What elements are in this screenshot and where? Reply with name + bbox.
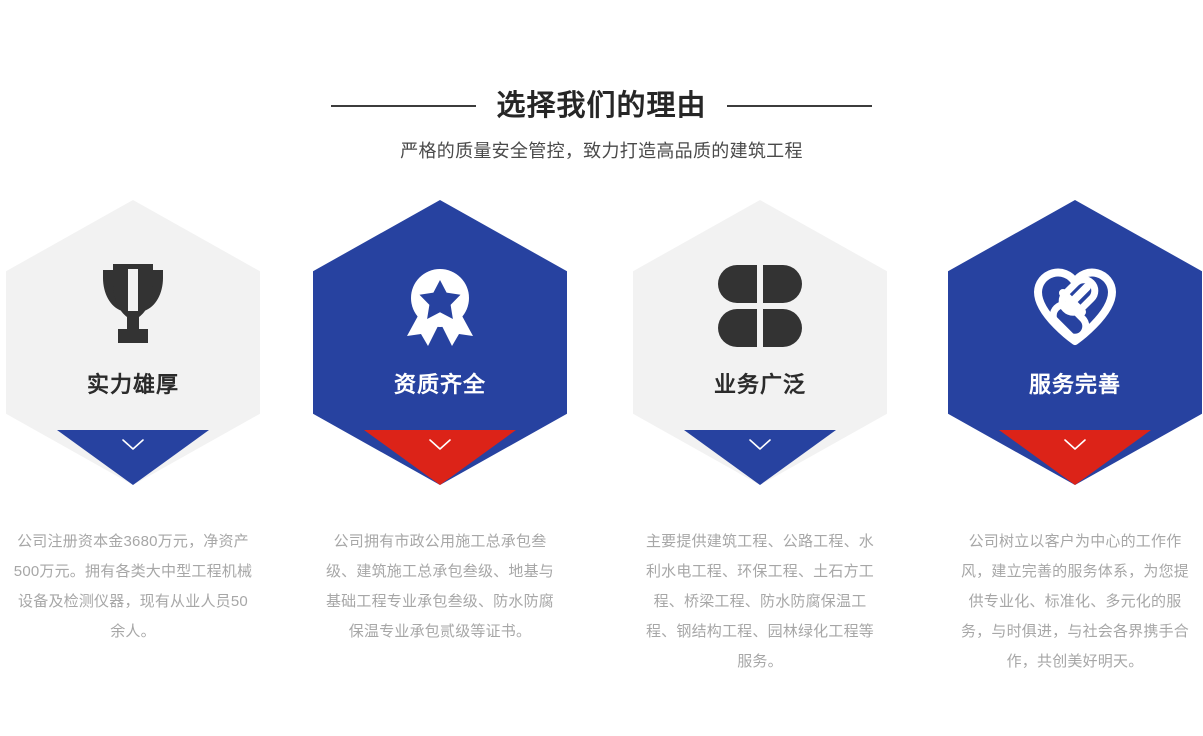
card-description: 公司树立以客户为中心的工作作风，建立完善的服务体系，为您提供专业化、标准化、多元… bbox=[948, 527, 1202, 677]
feature-card[interactable]: 实力雄厚 公司注册资本金3680万元，净资产500万元。拥有各类大中型工程机械设… bbox=[6, 200, 260, 647]
chevron-down-icon bbox=[1064, 439, 1086, 451]
chevron-down-icon bbox=[749, 439, 771, 451]
page-subtitle: 严格的质量安全管控，致力打造高品质的建筑工程 bbox=[0, 138, 1203, 164]
card-description: 公司拥有市政公用施工总承包叁级、建筑施工总承包叁级、地基与基础工程专业承包叁级、… bbox=[313, 527, 567, 647]
feature-card-list: 实力雄厚 公司注册资本金3680万元，净资产500万元。拥有各类大中型工程机械设… bbox=[0, 200, 1203, 700]
feature-card[interactable]: 业务广泛 主要提供建筑工程、公路工程、水利水电工程、环保工程、土石方工程、桥梁工… bbox=[633, 200, 887, 677]
card-description: 公司注册资本金3680万元，净资产500万元。拥有各类大中型工程机械设备及检测仪… bbox=[6, 527, 260, 647]
title-rule-right bbox=[727, 105, 872, 107]
trophy-icon bbox=[87, 258, 179, 354]
chevron-down-icon bbox=[429, 439, 451, 451]
section-header: 选择我们的理由 严格的质量安全管控，致力打造高品质的建筑工程 bbox=[0, 86, 1203, 164]
card-title: 实力雄厚 bbox=[87, 370, 179, 400]
hexagon-badge[interactable]: 资质齐全 bbox=[313, 200, 567, 485]
hexagon-badge[interactable]: 服务完善 bbox=[948, 200, 1202, 485]
hexagon-badge[interactable]: 业务广泛 bbox=[633, 200, 887, 485]
title-rule-left bbox=[331, 105, 476, 107]
feature-card[interactable]: 资质齐全 公司拥有市政公用施工总承包叁级、建筑施工总承包叁级、地基与基础工程专业… bbox=[313, 200, 567, 647]
card-title: 资质齐全 bbox=[394, 370, 486, 400]
card-title: 服务完善 bbox=[1029, 370, 1121, 400]
interlocked-hearts-icon bbox=[1029, 258, 1121, 354]
hexagon-badge[interactable]: 实力雄厚 bbox=[6, 200, 260, 485]
card-title: 业务广泛 bbox=[714, 370, 806, 400]
feature-card[interactable]: 服务完善 公司树立以客户为中心的工作作风，建立完善的服务体系，为您提供专业化、标… bbox=[948, 200, 1202, 677]
clover-four-petal-icon bbox=[714, 258, 806, 354]
page-title: 选择我们的理由 bbox=[496, 86, 706, 126]
section-title-row: 选择我们的理由 bbox=[0, 86, 1203, 126]
card-description: 主要提供建筑工程、公路工程、水利水电工程、环保工程、土石方工程、桥梁工程、防水防… bbox=[633, 527, 887, 677]
chevron-down-icon bbox=[122, 439, 144, 451]
award-medal-icon bbox=[394, 258, 486, 354]
